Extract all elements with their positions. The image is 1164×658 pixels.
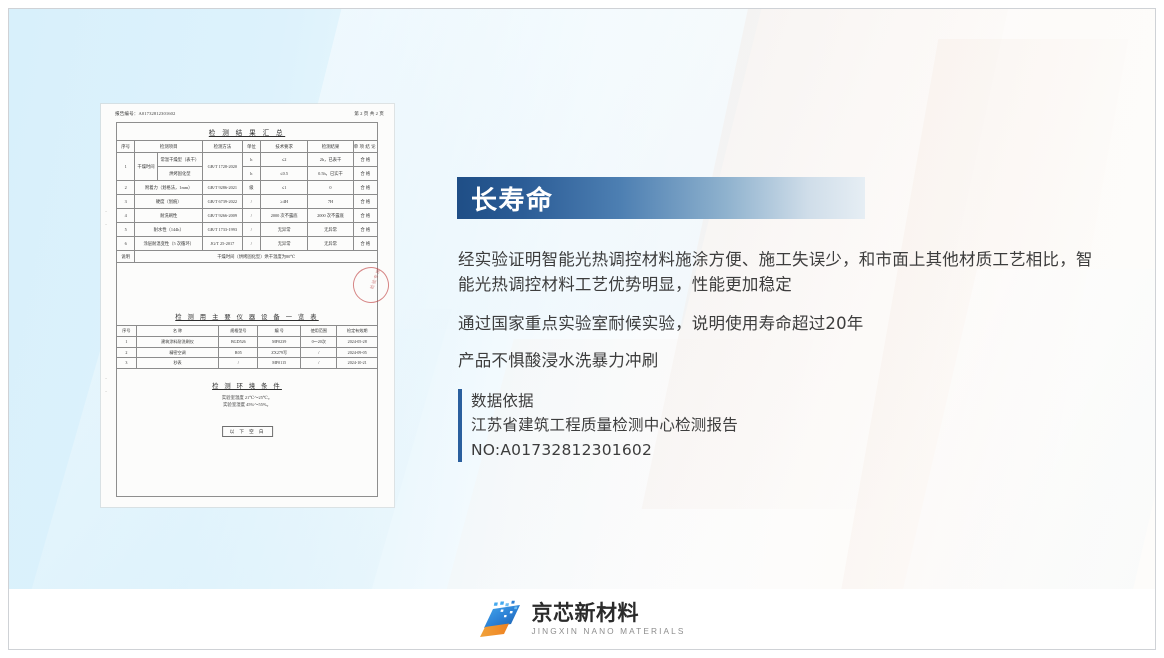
source-report-number: NO:A01732812301602 — [471, 438, 738, 462]
cell-requirement: ≥4H — [261, 195, 308, 209]
cell-conclusion: 合 格 — [353, 181, 377, 195]
cell-model: / — [219, 358, 258, 369]
col-header-requirement: 技术要求 — [261, 141, 308, 153]
cell-name: 建筑涂料耐洗刷仪 — [136, 337, 219, 348]
col-header-method: 检测方法 — [203, 141, 243, 153]
col-header-conclusion: 单项结论 — [353, 141, 377, 153]
source-label: 数据依据 — [471, 389, 738, 413]
cell-unit: / — [242, 223, 260, 237]
cell-unit: / — [242, 237, 260, 251]
cell-conclusion: 合 格 — [353, 209, 377, 223]
results-table: 序号 检测项目 检测方法 单位 技术要求 检测结果 单项结论 1 干燥时间 常温… — [116, 140, 378, 263]
logo-mark-icon — [479, 600, 523, 638]
cell-model: R05 — [219, 347, 258, 358]
cell-range: / — [301, 347, 337, 358]
cell-seq: 1 — [117, 153, 135, 181]
cell-sub-item: 常温干燥型（表干） — [157, 153, 202, 167]
cell-method: GB/T 9266-2009 — [203, 209, 243, 223]
col-header-result: 检测结果 — [308, 141, 353, 153]
table-header-row: 序号 检测项目 检测方法 单位 技术要求 检测结果 单项结论 — [117, 141, 378, 153]
cell-name: 精密空调 — [136, 347, 219, 358]
col-header-unit: 单位 — [242, 141, 260, 153]
table-row: 4 耐洗刷性 GB/T 9266-2009 / 2000 次不露底 2000 次… — [117, 209, 378, 223]
cell-unit: h — [242, 167, 260, 181]
cell-result: 0.5h，已实干 — [308, 167, 353, 181]
col-header-number: 编 号 — [258, 326, 301, 337]
cell-requirement: ≤1 — [261, 181, 308, 195]
margin-mark: ~ — [105, 389, 107, 394]
cell-seq: 3 — [117, 195, 135, 209]
cell-method: JG/T 25-2017 — [203, 237, 243, 251]
table-row: 2 附着力（划格法，1mm） GB/T 9286-2021 级 ≤1 0 合 格 — [117, 181, 378, 195]
cell-range: 0～20次 — [301, 337, 337, 348]
logo-text: 京芯新材料 JINGXIN NANO MATERIALS — [532, 603, 686, 635]
cell-item: 涂层耐温变性（5 次循环） — [135, 237, 203, 251]
col-header-validity: 检定有效期 — [337, 326, 378, 337]
table-row: 1 干燥时间 常温干燥型（表干） GB/T 1728-2020 h ≤2 2h，… — [117, 153, 378, 167]
cell-seq: 6 — [117, 237, 135, 251]
cell-result: 7H — [308, 195, 353, 209]
cell-name: 秒表 — [136, 358, 219, 369]
body-paragraph-3: 产品不惧酸浸水洗暴力冲刷 — [458, 348, 1106, 373]
cell-number: MF0115 — [258, 358, 301, 369]
margin-mark: ~ — [105, 209, 107, 214]
cell-seq: 1 — [117, 337, 137, 348]
cell-requirement: ≤2 — [261, 153, 308, 167]
test-report-image[interactable]: 报告编号：A01732812301602 第 2 页 共 2 页 检 测 结 果… — [101, 104, 394, 507]
cell-requirement: 2000 次不露底 — [261, 209, 308, 223]
footer-bar: 京芯新材料 JINGXIN NANO MATERIALS — [9, 589, 1155, 649]
cell-requirement: 无异常 — [261, 237, 308, 251]
cell-item: 附着力（划格法，1mm） — [135, 181, 203, 195]
note-label: 说明 — [117, 251, 135, 263]
cell-method: GB/T 9286-2021 — [203, 181, 243, 195]
slide-frame: 报告编号：A01732812301602 第 2 页 共 2 页 检 测 结 果… — [8, 8, 1156, 650]
cell-unit: 级 — [242, 181, 260, 195]
cell-sub-item: 烘烤固化型 — [157, 167, 202, 181]
company-logo: 京芯新材料 JINGXIN NANO MATERIALS — [479, 600, 686, 638]
cell-result: 2000 次不露底 — [308, 209, 353, 223]
cell-item: 硬度（划痕） — [135, 195, 203, 209]
building-ghost-shape — [444, 339, 814, 589]
cell-item-group: 干燥时间 — [135, 153, 157, 181]
environment-humidity: 实验室湿度 45%～55%。 — [116, 401, 378, 408]
cell-validity: 2024-10-21 — [337, 358, 378, 369]
col-header-name: 名 称 — [136, 326, 219, 337]
cell-conclusion: 合 格 — [353, 223, 377, 237]
cell-seq: 4 — [117, 209, 135, 223]
source-organization: 江苏省建筑工程质量检测中心检测报告 — [471, 413, 738, 437]
cell-unit: / — [242, 209, 260, 223]
col-header-seq: 序号 — [117, 326, 137, 337]
col-header-item: 检测项目 — [135, 141, 203, 153]
margin-mark: ~ — [105, 222, 107, 227]
note-text: 干燥时间（烘烤固化型）烘干温度为80℃ — [135, 251, 378, 263]
cell-result: 0 — [308, 181, 353, 195]
environment-section-title: 检 测 环 境 条 件 — [116, 381, 378, 390]
cell-requirement: ≤0.5 — [261, 167, 308, 181]
cell-method: GB/T 1728-2020 — [203, 153, 243, 181]
equipment-table-title: 检 测 用 主 要 仪 器 设 备 一 览 表 — [116, 312, 378, 321]
table-header-row: 序号 名 称 规格型号 编 号 使用范围 检定有效期 — [117, 326, 378, 337]
table-note-row: 说明 干燥时间（烘烤固化型）烘干温度为80℃ — [117, 251, 378, 263]
body-paragraph-1: 经实验证明智能光热调控材料施涂方便、施工失误少，和市面上其他材质工艺相比，智能光… — [458, 247, 1106, 297]
cell-method: GB/T 6739-2022 — [203, 195, 243, 209]
cell-seq: 3 — [117, 358, 137, 369]
table-row: 2 精密空调 R05 ZX279写 / 2024-09-05 — [117, 347, 378, 358]
equipment-table: 序号 名 称 规格型号 编 号 使用范围 检定有效期 1 建筑涂料耐洗刷仪 BG… — [116, 325, 378, 369]
report-page-number: 第 2 页 共 2 页 — [354, 111, 384, 117]
cell-number: MF0239 — [258, 337, 301, 348]
cell-range: / — [301, 358, 337, 369]
cell-seq: 5 — [117, 223, 135, 237]
cell-seq: 2 — [117, 181, 135, 195]
margin-mark: ~ — [105, 376, 107, 381]
cell-number: ZX279写 — [258, 347, 301, 358]
report-header: 报告编号：A01732812301602 第 2 页 共 2 页 — [115, 111, 384, 117]
report-page: 报告编号：A01732812301602 第 2 页 共 2 页 检 测 结 果… — [101, 104, 394, 507]
report-number: 报告编号：A01732812301602 — [115, 111, 175, 117]
cell-requirement: 无异常 — [261, 223, 308, 237]
col-header-model: 规格型号 — [219, 326, 258, 337]
cell-validity: 2024-05-28 — [337, 337, 378, 348]
table-row: 5 耐水性（144h） GB/T 1733-1993 / 无异常 无异常 合 格 — [117, 223, 378, 237]
cell-result: 2h，已表干 — [308, 153, 353, 167]
cell-validity: 2024-09-05 — [337, 347, 378, 358]
table-row: 6 涂层耐温变性（5 次循环） JG/T 25-2017 / 无异常 无异常 合… — [117, 237, 378, 251]
cell-item: 耐水性（144h） — [135, 223, 203, 237]
logo-name-cn: 京芯新材料 — [532, 603, 686, 624]
table-row: 1 建筑涂料耐洗刷仪 BGD526 MF0239 0～20次 2024-05-2… — [117, 337, 378, 348]
environment-temperature: 实验室温度 21℃～25℃。 — [116, 394, 378, 401]
page-title: 长寿命 — [471, 180, 554, 217]
table-row: 3 硬度（划痕） GB/T 6739-2022 / ≥4H 7H 合 格 — [117, 195, 378, 209]
data-source-block: 数据依据 江苏省建筑工程质量检测中心检测报告 NO:A0173281230160… — [458, 389, 738, 462]
section-title-banner: 长寿命 — [457, 177, 865, 219]
col-header-seq: 序号 — [117, 141, 135, 153]
logo-name-en: JINGXIN NANO MATERIALS — [532, 627, 686, 635]
col-header-range: 使用范围 — [301, 326, 337, 337]
slide-stage: 报告编号：A01732812301602 第 2 页 共 2 页 检 测 结 果… — [9, 9, 1155, 589]
cell-seq: 2 — [117, 347, 137, 358]
cell-conclusion: 合 格 — [353, 167, 377, 181]
cell-conclusion: 合 格 — [353, 153, 377, 167]
body-paragraph-2: 通过国家重点实验室耐候实验，说明使用寿命超过20年 — [458, 311, 1106, 336]
results-summary-title: 检 测 结 果 汇 总 — [116, 127, 378, 137]
table-row: 3 秒表 / MF0115 / 2024-10-21 — [117, 358, 378, 369]
cell-conclusion: 合 格 — [353, 237, 377, 251]
cell-unit: h — [242, 153, 260, 167]
cell-result: 无异常 — [308, 237, 353, 251]
cell-conclusion: 合 格 — [353, 195, 377, 209]
blank-below-box: 以 下 空 白 — [222, 426, 274, 437]
cell-method: GB/T 1733-1993 — [203, 223, 243, 237]
cell-unit: / — [242, 195, 260, 209]
cell-result: 无异常 — [308, 223, 353, 237]
cell-item: 耐洗刷性 — [135, 209, 203, 223]
cell-model: BGD526 — [219, 337, 258, 348]
environment-conditions: 实验室温度 21℃～25℃。 实验室湿度 45%～55%。 — [116, 394, 378, 408]
